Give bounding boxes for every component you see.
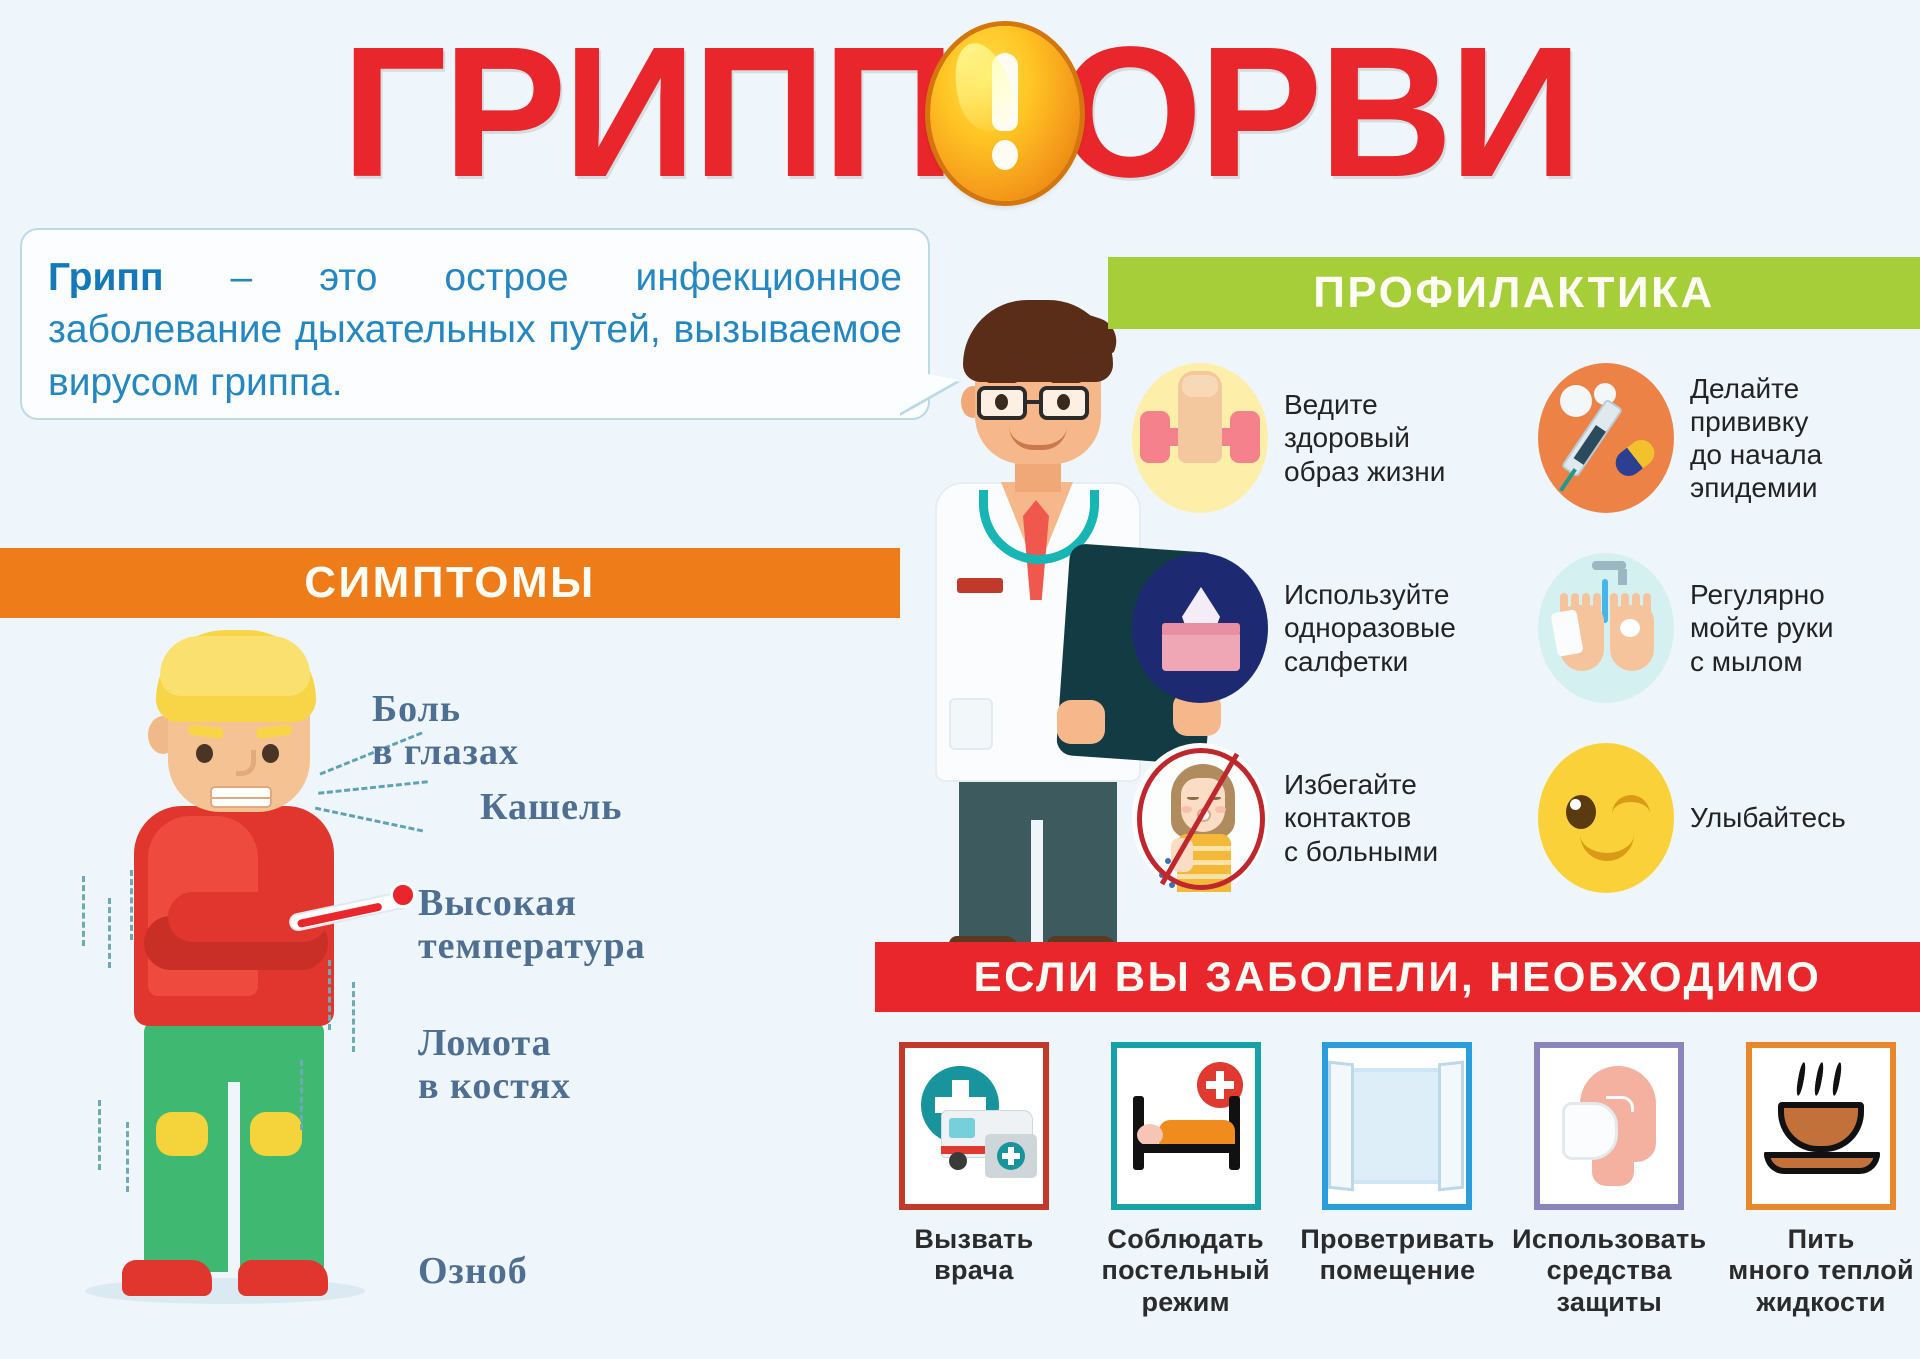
prevention-label: Избегайте контактов с больными — [1284, 768, 1438, 867]
ambulance-icon — [899, 1042, 1049, 1210]
bed-icon — [1111, 1042, 1261, 1210]
soap-foam — [1620, 619, 1640, 637]
tissue-box-shape — [1162, 631, 1240, 671]
smiley-wink-icon — [1538, 743, 1674, 893]
prevention-label: Улыбайтесь — [1690, 801, 1846, 834]
shiver-line — [126, 1122, 129, 1192]
intro-text: Грипп – это острое инфекционное заболева… — [48, 252, 902, 409]
boy-shoe-right — [238, 1260, 328, 1296]
syringe-icon — [1538, 363, 1674, 513]
face-mask-icon — [1534, 1042, 1684, 1210]
boy-leg-split — [228, 1082, 240, 1272]
shiver-line — [130, 870, 133, 940]
speech-bubble-tail — [898, 368, 958, 414]
thermometer-bulb — [390, 882, 416, 908]
card-bed-rest: Соблюдать постельный режим — [1087, 1042, 1285, 1342]
symptom-cough: Кашель — [480, 786, 622, 829]
prevention-label: Регулярно мойте руки с мылом — [1690, 578, 1833, 677]
card-drink-fluids: Пить много теплой жидкости — [1722, 1042, 1920, 1342]
doctor-eye-right — [1057, 394, 1070, 410]
shiver-line — [300, 1060, 303, 1130]
steam-wisp — [1795, 1062, 1807, 1097]
card-ventilate-room: Проветривать помещение — [1299, 1042, 1497, 1342]
symptom-high-temperature: Высокая температура — [418, 882, 646, 967]
prevention-item-wash-hands: Регулярно мойте руки с мылом — [1538, 538, 1920, 718]
symptom-chills: Озноб — [418, 1250, 528, 1293]
title-word-orvi: ОРВИ — [1058, 20, 1579, 206]
if-ill-banner: ЕСЛИ ВЫ ЗАБОЛЕЛИ, НЕОБХОДИМО — [875, 942, 1920, 1012]
tissue-box-icon — [1132, 553, 1268, 703]
boy-gritted-teeth — [210, 786, 272, 808]
shiver-line — [108, 898, 111, 968]
bed-base — [1133, 1144, 1240, 1153]
boy-knee-right — [250, 1112, 302, 1156]
first-aid-cross — [997, 1142, 1025, 1170]
smiley-eye-wink — [1612, 795, 1650, 817]
shiver-line — [328, 960, 331, 1030]
card-label: Вызвать врача — [914, 1224, 1033, 1287]
card-label: Пить много теплой жидкости — [1728, 1224, 1914, 1318]
dumbbell-weight-right — [1230, 411, 1260, 463]
window-leaf-left — [1328, 1061, 1354, 1192]
smiley-mouth — [1580, 831, 1634, 861]
hot-drink-icon — [1746, 1042, 1896, 1210]
sick-boy-illustration — [60, 630, 390, 1330]
prevention-grid: Ведите здоровый образ жизни Делайте прив… — [1132, 348, 1920, 908]
prevention-item-vaccination: Делайте прививку до начала эпидемии — [1538, 348, 1920, 528]
saucer-shape — [1764, 1152, 1880, 1174]
capsule-pill — [1610, 435, 1659, 481]
title-word-grip: ГРИПП — [341, 20, 952, 206]
shiver-line — [352, 982, 355, 1052]
card-label: Проветривать помещение — [1300, 1224, 1494, 1287]
card-label: Использовать средства защиты — [1510, 1224, 1708, 1318]
page-title: ГРИПП ОРВИ — [0, 18, 1920, 208]
doctor-eye-left — [995, 394, 1008, 410]
no-contact-icon — [1132, 743, 1268, 893]
boy-hair-highlight — [160, 636, 310, 696]
exclamation-dot — [992, 140, 1018, 170]
card-use-protection: Использовать средства защиты — [1510, 1042, 1708, 1342]
hand-fist — [1178, 371, 1222, 463]
bed-pillow — [1137, 1124, 1163, 1146]
doctor-badge — [957, 578, 1003, 593]
card-call-doctor: Вызвать врача — [875, 1042, 1073, 1342]
symptom-body-aches: Ломота в костях — [418, 1022, 571, 1107]
dumbbell-icon — [1132, 363, 1268, 513]
steam-wisp — [1831, 1062, 1843, 1097]
shiver-line — [82, 876, 85, 946]
boy-knee-left — [156, 1112, 208, 1156]
window-leaf-right — [1438, 1061, 1464, 1192]
bed-mattress — [1159, 1120, 1235, 1146]
pain-ray — [318, 780, 428, 794]
boy-eye-left — [196, 744, 213, 763]
washing-hands-icon — [1538, 553, 1674, 703]
symptom-eye-pain: Боль в глазах — [372, 688, 519, 773]
steam-wisp — [1813, 1062, 1825, 1097]
boy-eye-right — [262, 744, 279, 763]
if-ill-card-grid: Вызвать врача Соблюдать постельный режим… — [875, 1042, 1920, 1342]
coat-pocket-left — [949, 698, 993, 750]
intro-speech-bubble: Грипп – это острое инфекционное заболева… — [20, 228, 930, 420]
window-icon — [1322, 1042, 1472, 1210]
glasses-bridge — [1027, 400, 1039, 404]
doctor-brow-left — [985, 374, 1019, 383]
boy-shoe-left — [122, 1260, 212, 1296]
prevention-item-smile: Улыбайтесь — [1538, 728, 1920, 908]
doctor-brow-right — [1049, 374, 1083, 383]
prevention-label: Используйте одноразовые салфетки — [1284, 578, 1456, 677]
shiver-line — [98, 1100, 101, 1170]
doctor-trousers-split — [1031, 820, 1043, 952]
prevention-label: Делайте прививку до начала эпидемии — [1690, 372, 1822, 504]
exclamation-circle-icon — [930, 26, 1080, 201]
prevention-label: Ведите здоровый образ жизни — [1284, 388, 1445, 487]
palm-right — [1610, 605, 1654, 671]
intro-lead-word: Грипп — [48, 256, 164, 299]
symptoms-banner: СИМПТОМЫ — [0, 548, 900, 618]
doctor-hand-left — [1057, 700, 1105, 744]
exclamation-stem — [992, 53, 1018, 131]
pain-ray — [315, 807, 423, 833]
window-pane — [1352, 1072, 1442, 1180]
card-label: Соблюдать постельный режим — [1101, 1224, 1269, 1318]
smiley-eye-open — [1566, 795, 1596, 829]
ambulance-wheel — [949, 1152, 967, 1170]
prevention-item-avoid-contact: Избегайте контактов с больными — [1132, 728, 1516, 908]
ambulance-window — [949, 1118, 975, 1138]
mask-strap — [1606, 1096, 1634, 1112]
prevention-item-healthy-lifestyle: Ведите здоровый образ жизни — [1132, 348, 1516, 528]
intro-rest-text: – это острое инфекционное заболевание ды… — [48, 256, 902, 404]
cup-shape — [1778, 1102, 1864, 1152]
tablet-large — [1560, 385, 1592, 417]
prevention-item-tissues: Используйте одноразовые салфетки — [1132, 538, 1516, 718]
prevention-banner: ПРОФИЛАКТИКА — [1108, 257, 1920, 329]
faucet-shape — [1592, 561, 1626, 570]
